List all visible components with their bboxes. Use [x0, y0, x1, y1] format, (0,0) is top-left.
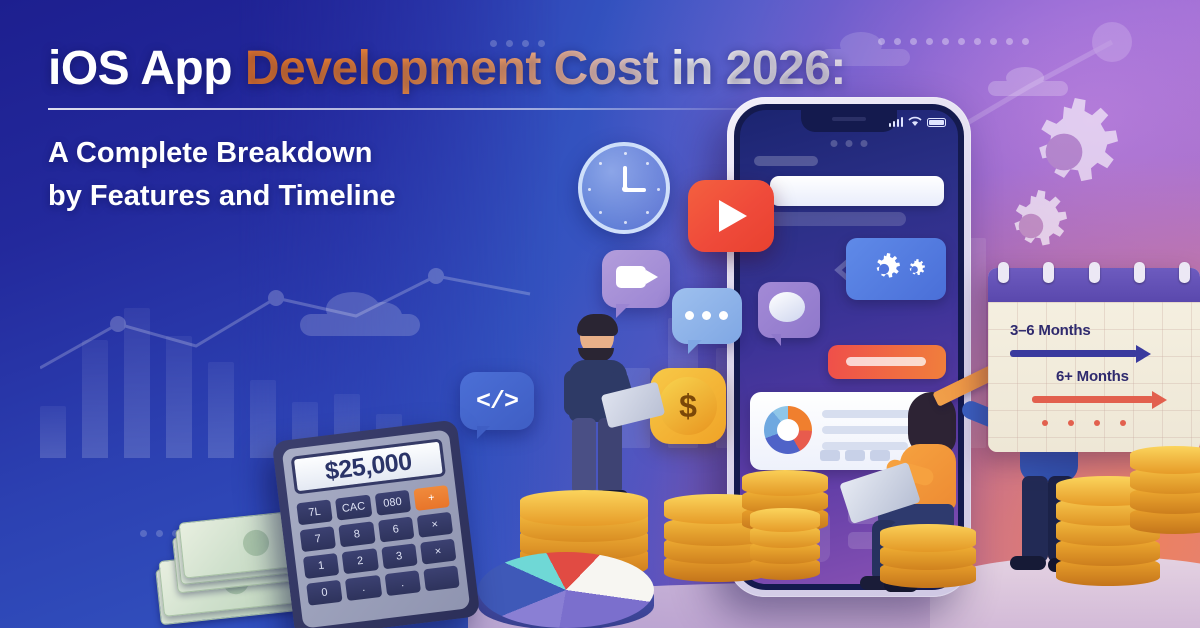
banner-image: iOS App Development Cost in 2026: A Comp…: [0, 0, 1200, 628]
calc-key[interactable]: 3: [381, 543, 418, 569]
dollar-glyph: $: [659, 377, 717, 435]
phone-settings-card[interactable]: [846, 238, 946, 300]
pie-chart: [478, 552, 654, 628]
developer-character: [538, 318, 658, 518]
phone-subtitle-placeholder: [754, 212, 906, 226]
phone-notch: [801, 110, 897, 132]
title-part-development-cost: Development Cost: [245, 42, 658, 95]
gear-icon: [868, 253, 900, 285]
title-divider: [48, 108, 738, 110]
calc-key[interactable]: 6: [378, 517, 415, 543]
video-camera-bubble[interactable]: [602, 250, 670, 308]
phone-search-field[interactable]: [770, 176, 944, 206]
calc-key[interactable]: ×: [420, 539, 457, 565]
signal-bars-icon: [889, 117, 904, 127]
video-camera-icon: [616, 266, 646, 288]
timeline-calendar-card: 3–6 Months 6+ Months: [988, 268, 1200, 452]
cloud-icon-1: [300, 296, 420, 336]
battery-icon: [927, 118, 946, 127]
phone-title-placeholder: [754, 156, 818, 166]
calc-key-plus[interactable]: +: [413, 485, 450, 511]
calculator-keypad[interactable]: 7L CAC 080 + 7 8 6 × 1 2 3 × 0 . .: [296, 485, 459, 606]
calc-key[interactable]: ×: [416, 512, 453, 538]
calc-key[interactable]: 0: [306, 580, 343, 606]
chat-bubble-icon[interactable]: [672, 288, 742, 344]
timeline-arrow-2: [1032, 396, 1154, 403]
pie-chart-top: [478, 552, 654, 628]
phone-message-bubble[interactable]: [758, 282, 820, 338]
calc-key[interactable]: 080: [374, 490, 411, 516]
wifi-icon: [908, 116, 922, 127]
calc-key[interactable]: 7L: [296, 499, 333, 525]
play-button-icon[interactable]: [688, 180, 774, 252]
phone-cta-button[interactable]: [828, 345, 946, 379]
code-brackets-icon[interactable]: </>: [460, 372, 534, 430]
calc-key[interactable]: .: [345, 575, 382, 601]
calculator-display: $25,000: [291, 438, 446, 494]
clock-icon: [578, 142, 670, 234]
donut-chart-icon: [764, 406, 812, 454]
title-part-ios-app: iOS App: [48, 42, 245, 95]
calc-key[interactable]: 7: [300, 526, 337, 552]
page-title: iOS App Development Cost in 2026:: [48, 44, 768, 94]
coin-stack-under-designer: [880, 520, 976, 590]
coin-stack-corner: [1130, 430, 1200, 540]
cloud-icon-3: [988, 68, 1068, 96]
code-glyph: </>: [476, 387, 518, 416]
timeline-arrow-1: [1010, 350, 1138, 357]
gear-icon-small: [995, 190, 1067, 262]
phone-indicator-dots: [831, 140, 868, 147]
title-part-in-2026: in 2026:: [658, 42, 846, 95]
calendar-spiral-rings: [998, 262, 1190, 283]
timeline-label-3-6-months: 3–6 Months: [1010, 322, 1091, 339]
calc-key[interactable]: 8: [339, 521, 376, 547]
coin-stack-phone-left: [750, 508, 820, 588]
calc-key[interactable]: [423, 565, 460, 591]
calculator-display-value: $25,000: [323, 447, 413, 486]
timeline-markers: [1042, 420, 1126, 426]
calculator[interactable]: $25,000 7L CAC 080 + 7 8 6 × 1 2 3 × 0 .…: [272, 419, 481, 628]
calc-key[interactable]: .: [384, 570, 421, 596]
calc-key[interactable]: CAC: [335, 495, 372, 521]
phone-status-bar: [889, 116, 947, 127]
calculator-face: $25,000 7L CAC 080 + 7 8 6 × 1 2 3 × 0 .…: [282, 429, 471, 628]
timeline-label-6-plus-months: 6+ Months: [1056, 368, 1129, 385]
calc-key[interactable]: 1: [303, 553, 340, 579]
calc-key[interactable]: 2: [342, 548, 379, 574]
gear-icon-secondary: [904, 259, 925, 280]
